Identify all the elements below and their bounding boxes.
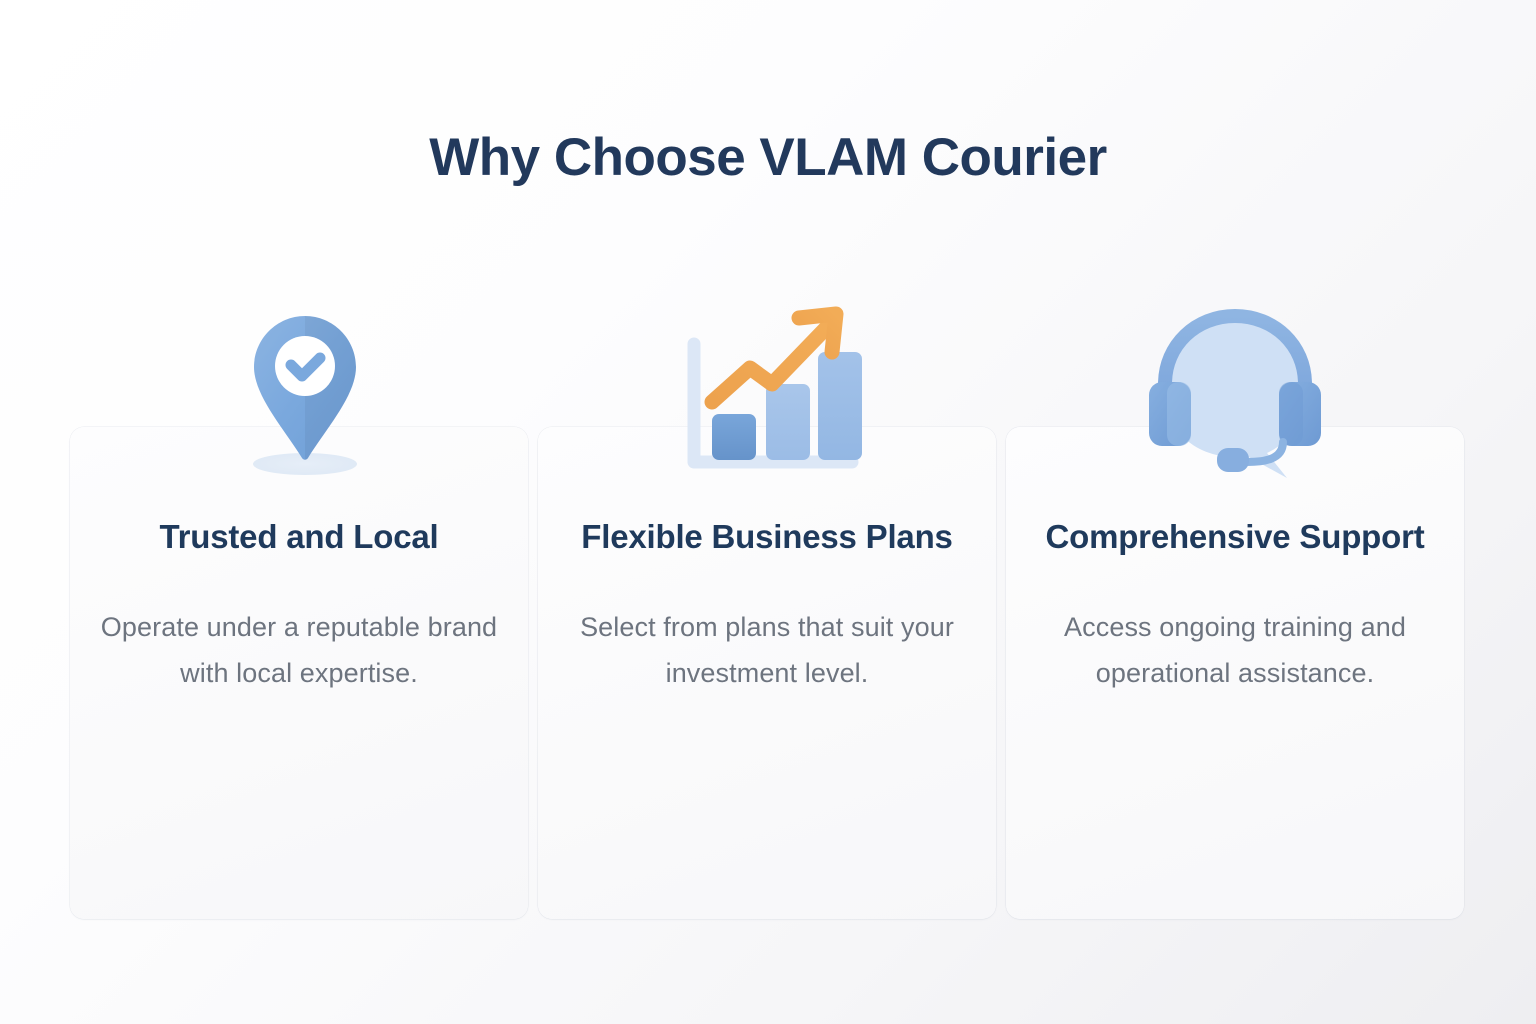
feature-section: Why Choose VLAM Courier Trusted and Loca… [0, 0, 1536, 1024]
map-pin-check-icon: map-pin-check-icon [205, 296, 405, 486]
feature-card-flexible-business-plans[interactable]: Flexible Business Plans Select from plan… [538, 427, 996, 919]
card-title: Flexible Business Plans [564, 515, 970, 560]
feature-card-trusted-and-local[interactable]: Trusted and Local Operate under a reputa… [70, 427, 528, 919]
card-title: Comprehensive Support [1032, 515, 1438, 560]
feature-card-list: Trusted and Local Operate under a reputa… [70, 427, 1464, 919]
growth-bar-chart-icon: growth-bar-chart-icon [670, 296, 870, 486]
headset-support-icon: headset-support-icon [1135, 296, 1335, 486]
page-title: Why Choose VLAM Courier [0, 128, 1536, 189]
card-title: Trusted and Local [96, 515, 502, 560]
card-description: Operate under a reputable brand with loc… [96, 604, 502, 697]
card-description: Access ongoing training and operational … [1032, 604, 1438, 697]
feature-card-comprehensive-support[interactable]: Comprehensive Support Access ongoing tra… [1006, 427, 1464, 919]
card-description: Select from plans that suit your investm… [564, 604, 970, 697]
